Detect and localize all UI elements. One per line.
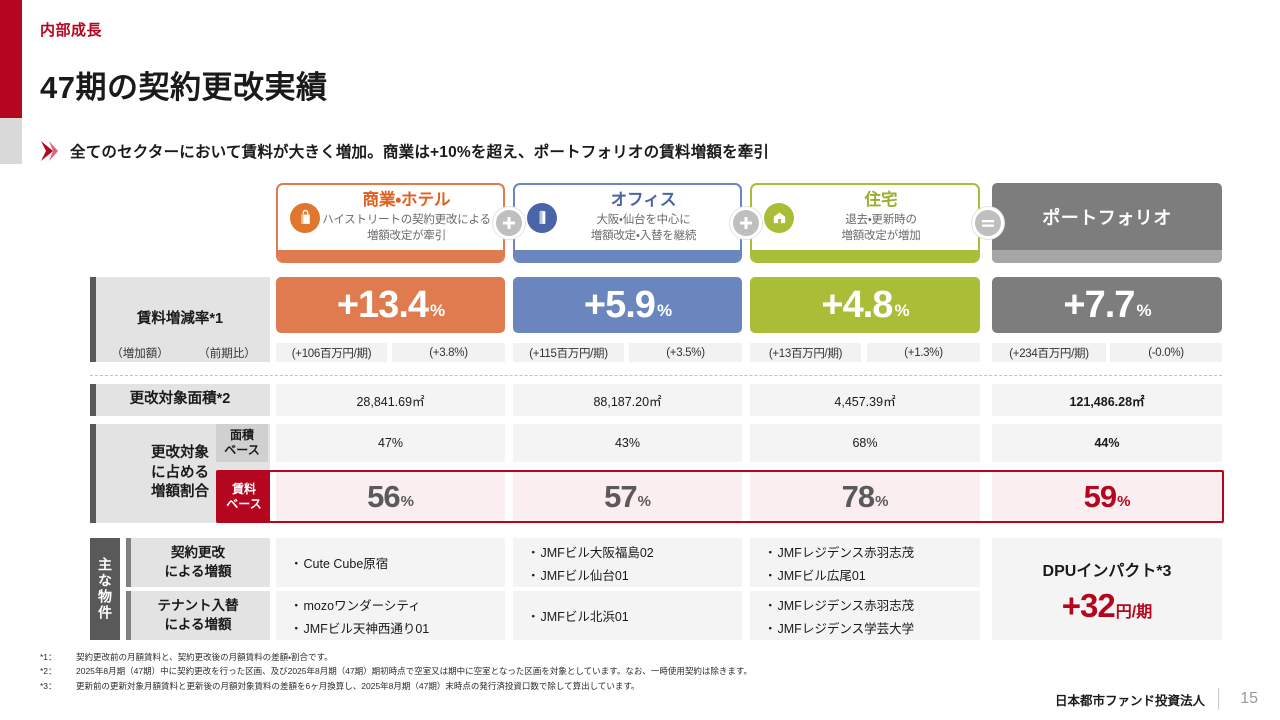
dpu-number: +32 <box>1062 589 1115 622</box>
area-base-residence: 68% <box>750 424 980 462</box>
row-label-text: 更改対象面積*2 <box>90 390 270 410</box>
value-number: +7.7 <box>1063 286 1134 324</box>
area-base-office: 43% <box>513 424 742 462</box>
sector-accent-bar <box>515 250 740 263</box>
value-unit: % <box>1117 493 1130 510</box>
footer-divider <box>1218 688 1219 710</box>
slide-root: 内部成長 47期の契約更改実績 全てのセクターにおいて賃料が大きく増加。商業は+… <box>0 0 1280 720</box>
rent-change-yoy-retail: (+3.8%) <box>392 343 505 362</box>
sector-card-body: オフィス 大阪・仙台を中心に 増額改定・入替を継続 <box>515 185 740 250</box>
sector-sub-line2: 増額改定が牽引 <box>322 229 491 245</box>
lead-statement: 全てのセクターにおいて賃料が大きく増加。商業は+10%を超え、ポートフォリオの賃… <box>40 140 769 162</box>
footnote-mark: *3： <box>40 679 76 693</box>
value-unit: % <box>430 301 444 321</box>
rent-change-yoy-portfolio: (-0.0%) <box>1110 343 1222 362</box>
property-list-turnover-office: JMFビル北浜01 <box>513 591 742 640</box>
basis-tag-line2: ベース <box>224 443 259 458</box>
sector-card-retail[interactable]: 商業・ホテル ハイストリートの契約更改による 増額改定が牽引 <box>276 183 505 263</box>
footnote-3: *3： 更新前の更新対象月額賃料と更新後の月額対象賃料の差額を6ヶ月換算し、20… <box>40 679 840 693</box>
list-item: JMFレジデンス学芸大学 <box>764 618 980 637</box>
property-list-renewal-retail: Cute Cube原宿 <box>276 538 505 587</box>
sector-sub-line1: ハイストリートの契約更改による <box>322 213 491 229</box>
list-item: JMFビル仙台01 <box>527 565 742 584</box>
sector-card-body: ポートフォリオ <box>992 183 1222 250</box>
rent-change-yoy-residence: (+1.3%) <box>867 343 980 362</box>
area-base-portfolio: 44% <box>992 424 1222 462</box>
basis-tag-line1: 賃料 <box>226 482 261 497</box>
label-line2: による増額 <box>164 563 231 581</box>
sector-sub-line2: 増額改定が増加 <box>796 229 966 245</box>
shopping-bag-icon <box>290 203 320 233</box>
rent-change-value-retail: +13.4 % <box>276 277 505 333</box>
list-item: JMFビル天神西通り01 <box>290 618 505 637</box>
rent-change-value-office: +5.9 % <box>513 277 742 333</box>
page-number: 15 <box>1232 690 1258 708</box>
row-label-text: 賃料増減率*1 <box>90 310 270 330</box>
list-item: JMFビル北浜01 <box>527 606 742 625</box>
label-line2: による増額 <box>158 616 239 634</box>
footnote-text: 更新前の更新対象月額賃料と更新後の月額対象賃料の差額を6ヶ月換算し、2025年8… <box>76 679 639 693</box>
rent-change-value-residence: +4.8 % <box>750 277 980 333</box>
dpu-title: DPUインパクト*3 <box>1043 557 1172 581</box>
footnote-2: *2： 2025年8月期（47期）中に契約更改を行った区画、及び2025年8月期… <box>40 664 840 678</box>
footnote-mark: *1： <box>40 650 76 664</box>
dpu-impact-box: DPUインパクト*3 +32 円/期 <box>992 538 1222 640</box>
list-item: JMFレジデンス赤羽志茂 <box>764 595 980 614</box>
rent-base-portfolio: 59 % <box>992 472 1222 521</box>
area-base-retail: 47% <box>276 424 505 462</box>
properties-vertical-label: 主な物件 <box>90 538 120 640</box>
company-name: 日本都市ファンド投資法人 <box>1055 690 1205 709</box>
section-kicker: 内部成長 <box>40 19 102 40</box>
row-divider <box>90 375 1222 376</box>
rent-base-retail: 56 % <box>276 472 505 521</box>
sector-name: オフィス <box>559 191 728 211</box>
basis-tag-rent: 賃料 ベース <box>218 472 270 521</box>
plus-icon <box>493 207 525 239</box>
value-unit: % <box>657 301 671 321</box>
rent-change-amount-office: (+115百万円/期) <box>513 343 624 362</box>
basis-tag-area: 面積 ベース <box>216 424 268 462</box>
value-number: 78 <box>842 481 874 512</box>
value-unit: % <box>875 493 888 510</box>
office-building-icon <box>527 203 557 233</box>
sector-texts: 住宅 退去・更新時の 増額改定が増加 <box>796 191 972 245</box>
target-area-retail: 28,841.69㎡ <box>276 384 505 416</box>
sector-card-residence[interactable]: 住宅 退去・更新時の 増額改定が増加 <box>750 183 980 263</box>
basis-tag-line1: 面積 <box>224 428 259 443</box>
value-unit: % <box>401 493 414 510</box>
slide-footer: 日本都市ファンド投資法人 15 <box>1055 688 1258 710</box>
value-number: 56 <box>367 481 399 512</box>
dpu-unit: 円/期 <box>1116 598 1152 622</box>
lead-text: 全てのセクターにおいて賃料が大きく増加。商業は+10%を超え、ポートフォリオの賃… <box>70 140 769 162</box>
target-area-residence: 4,457.39㎡ <box>750 384 980 416</box>
equals-icon <box>972 207 1004 239</box>
target-area-office: 88,187.20㎡ <box>513 384 742 416</box>
page-title: 47期の契約更改実績 <box>40 62 327 107</box>
sector-texts: オフィス 大阪・仙台を中心に 増額改定・入替を継続 <box>559 191 734 245</box>
property-group-label-turnover: テナント入替 による増額 <box>126 591 270 640</box>
sector-card-office[interactable]: オフィス 大阪・仙台を中心に 増額改定・入替を継続 <box>513 183 742 263</box>
footnote-text: 契約更改前の月額賃料と、契約更改後の月額賃料の差額・割合です。 <box>76 650 333 664</box>
property-group-label-renewal: 契約更改 による増額 <box>126 538 270 587</box>
sector-sub-line1: 大阪・仙台を中心に <box>559 213 728 229</box>
sublabel-yoy: （前期比） <box>184 343 270 362</box>
label-line1: 契約更改 <box>164 544 231 562</box>
sector-name: ポートフォリオ <box>1042 204 1172 230</box>
value-number: 57 <box>604 481 636 512</box>
value-number: +5.9 <box>584 286 655 324</box>
sector-texts: 商業・ホテル ハイストリートの契約更改による 増額改定が牽引 <box>322 191 497 245</box>
footnote-mark: *2： <box>40 664 76 678</box>
house-icon <box>764 203 794 233</box>
value-number: +4.8 <box>821 286 892 324</box>
sector-sub-line2: 増額改定・入替を継続 <box>559 229 728 245</box>
property-list-renewal-residence: JMFレジデンス赤羽志茂 JMFビル広尾01 <box>750 538 980 587</box>
target-area-portfolio: 121,486.28㎡ <box>992 384 1222 416</box>
list-item: JMFビル広尾01 <box>764 565 980 584</box>
sector-accent-bar <box>752 250 978 263</box>
list-item: JMFレジデンス赤羽志茂 <box>764 542 980 561</box>
accent-bar-gray <box>0 118 22 164</box>
sector-accent-bar <box>992 250 1222 263</box>
footnote-1: *1： 契約更改前の月額賃料と、契約更改後の月額賃料の差額・割合です。 <box>40 650 840 664</box>
rent-base-residence: 78 % <box>750 472 980 521</box>
sector-name: 商業・ホテル <box>322 191 491 211</box>
list-item: JMFビル大阪福島02 <box>527 542 742 561</box>
property-list-turnover-residence: JMFレジデンス赤羽志茂 JMFレジデンス学芸大学 <box>750 591 980 640</box>
property-list-renewal-office: JMFビル大阪福島02 JMFビル仙台01 <box>513 538 742 587</box>
sector-card-body: 住宅 退去・更新時の 増額改定が増加 <box>752 185 978 250</box>
sector-card-body: 商業・ホテル ハイストリートの契約更改による 増額改定が牽引 <box>278 185 503 250</box>
plus-icon <box>730 207 762 239</box>
row-label-target-area: 更改対象面積*2 <box>90 384 270 416</box>
footnote-text: 2025年8月期（47期）中に契約更改を行った区画、及び2025年8月期（47期… <box>76 664 752 678</box>
rent-change-amount-residence: (+13百万円/期) <box>750 343 861 362</box>
sublabel-amount: （増加額） <box>96 343 184 362</box>
value-number: 59 <box>1084 481 1116 512</box>
value-unit: % <box>638 493 651 510</box>
rent-change-amount-portfolio: (+234百万円/期) <box>992 343 1106 362</box>
dpu-value: +32 円/期 <box>1062 589 1152 622</box>
list-item: Cute Cube原宿 <box>290 553 505 572</box>
value-unit: % <box>1136 301 1150 321</box>
basis-tag-line2: ベース <box>226 497 261 512</box>
sector-accent-bar <box>278 250 503 263</box>
rent-change-yoy-office: (+3.5%) <box>629 343 742 362</box>
property-list-turnover-retail: mozoワンダーシティ JMFビル天神西通り01 <box>276 591 505 640</box>
rent-change-amount-retail: (+106百万円/期) <box>276 343 387 362</box>
value-unit: % <box>894 301 908 321</box>
value-number: +13.4 <box>337 286 428 324</box>
sector-card-portfolio[interactable]: ポートフォリオ <box>992 183 1222 263</box>
rent-change-value-portfolio: +7.7 % <box>992 277 1222 333</box>
list-item: mozoワンダーシティ <box>290 595 505 614</box>
label-line1: テナント入替 <box>158 597 239 615</box>
sector-sub-line1: 退去・更新時の <box>796 213 966 229</box>
footnotes: *1： 契約更改前の月額賃料と、契約更改後の月額賃料の差額・割合です。 *2： … <box>40 650 840 693</box>
accent-bar-red <box>0 0 22 118</box>
rent-base-office: 57 % <box>513 472 742 521</box>
chevron-right-icon <box>40 140 58 162</box>
sector-name: 住宅 <box>796 191 966 211</box>
